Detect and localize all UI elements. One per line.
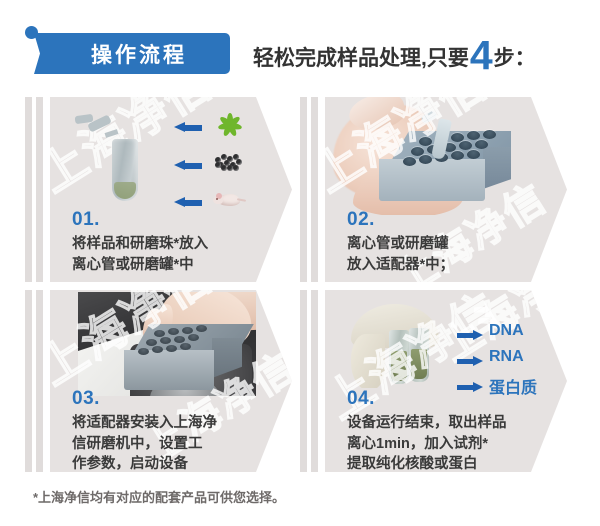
card-accent-bar	[36, 97, 43, 282]
output-arrow-icon	[457, 330, 483, 340]
section-banner-label: 操作流程	[77, 39, 187, 69]
headline-step-count: 4	[470, 39, 493, 72]
step-text-line: 设备运行结束，取出样品	[347, 413, 507, 434]
photo-installing-adapter-in-grinder	[78, 292, 256, 396]
section-banner: 操作流程	[34, 33, 230, 74]
step-card-01: 上海净信	[25, 97, 300, 282]
card-accent-bar	[36, 290, 43, 472]
step-caption: 03. 将适配器安装入上海净 信研磨机中，设置工 作参数，启动设备	[72, 388, 217, 472]
headline: 轻松完成样品处理,只要 4 步：	[253, 35, 536, 72]
step-card-02: 上海净信 上海净信 02. 离心管或研磨罐 放入适配器*中；	[300, 97, 575, 282]
step-caption: 04. 设备运行结束，取出样品 离心1min，加入试剂* 提取纯化核酸或蛋白	[347, 388, 507, 472]
output-label-rna: RNA	[489, 348, 524, 366]
input-arrow-icon	[174, 160, 202, 171]
grinding-beads-icon	[213, 151, 243, 171]
step-text-line: 离心管或研磨罐	[347, 234, 454, 255]
page-header: 操作流程 轻松完成样品处理,只要 4 步：	[0, 0, 600, 92]
headline-suffix: 步：	[494, 42, 536, 72]
step-text-line: 提取纯化核酸或蛋白	[347, 454, 507, 472]
step-card-body: 上海净信	[50, 97, 292, 282]
input-arrow-icon	[174, 122, 202, 133]
step-text-line: 离心1min，加入试剂*	[347, 434, 507, 455]
step-text-line: 作参数，启动设备	[72, 454, 217, 472]
step-caption: 01. 将样品和研磨珠*放入 离心管或研磨罐*中	[72, 209, 208, 275]
step-number: 04.	[347, 388, 507, 410]
card-accent-bar	[25, 290, 32, 472]
headline-prefix: 轻松完成样品处理,只要	[253, 42, 469, 72]
step-card-04: 上海净信 上海净信 DNA RNA 蛋白质 04. 设备运行结束，取出样品 离心…	[300, 290, 575, 472]
mouse-icon	[213, 190, 245, 208]
step-text-line: 将适配器安装入上海净	[72, 413, 217, 434]
footnote: *上海净信均有对应的配套产品可供您选择。	[33, 487, 285, 506]
output-arrow-icon	[457, 356, 483, 366]
step-number: 02.	[347, 209, 454, 231]
leaf-icon	[216, 111, 242, 137]
step-number: 01.	[72, 209, 208, 231]
step-caption: 02. 离心管或研磨罐 放入适配器*中；	[347, 209, 454, 275]
step-card-body: 上海净信 上海净信 DNA RNA 蛋白质 04. 设备运行结束，取出样品 离心…	[325, 290, 567, 472]
card-accent-bar	[311, 97, 318, 282]
input-arrow-icon	[174, 197, 202, 208]
card-accent-bar	[300, 97, 307, 282]
photo-hand-holding-adapter-block	[331, 97, 511, 215]
step-card-body: 上海净信 上海净信 02. 离心管或研磨罐 放入适配器*中；	[325, 97, 567, 282]
step-card-03: 上海净信 上海净信 03. 将适配器安装入上海净 信研磨机中，设置工 作参数，启…	[25, 290, 300, 472]
card-accent-bar	[311, 290, 318, 472]
card-accent-bar	[300, 290, 307, 472]
step-text-line: 离心管或研磨罐*中	[72, 255, 208, 276]
card-accent-bar	[25, 97, 32, 282]
step-card-body: 上海净信 上海净信 03. 将适配器安装入上海净 信研磨机中，设置工 作参数，启…	[50, 290, 292, 472]
step-number: 03.	[72, 388, 217, 410]
photo-gloved-hand-with-tubes	[351, 300, 451, 388]
step-text-line: 信研磨机中，设置工	[72, 434, 217, 455]
step-text-line: 放入适配器*中；	[347, 255, 454, 276]
output-label-dna: DNA	[489, 322, 524, 340]
step-text-line: 将样品和研磨珠*放入	[72, 234, 208, 255]
